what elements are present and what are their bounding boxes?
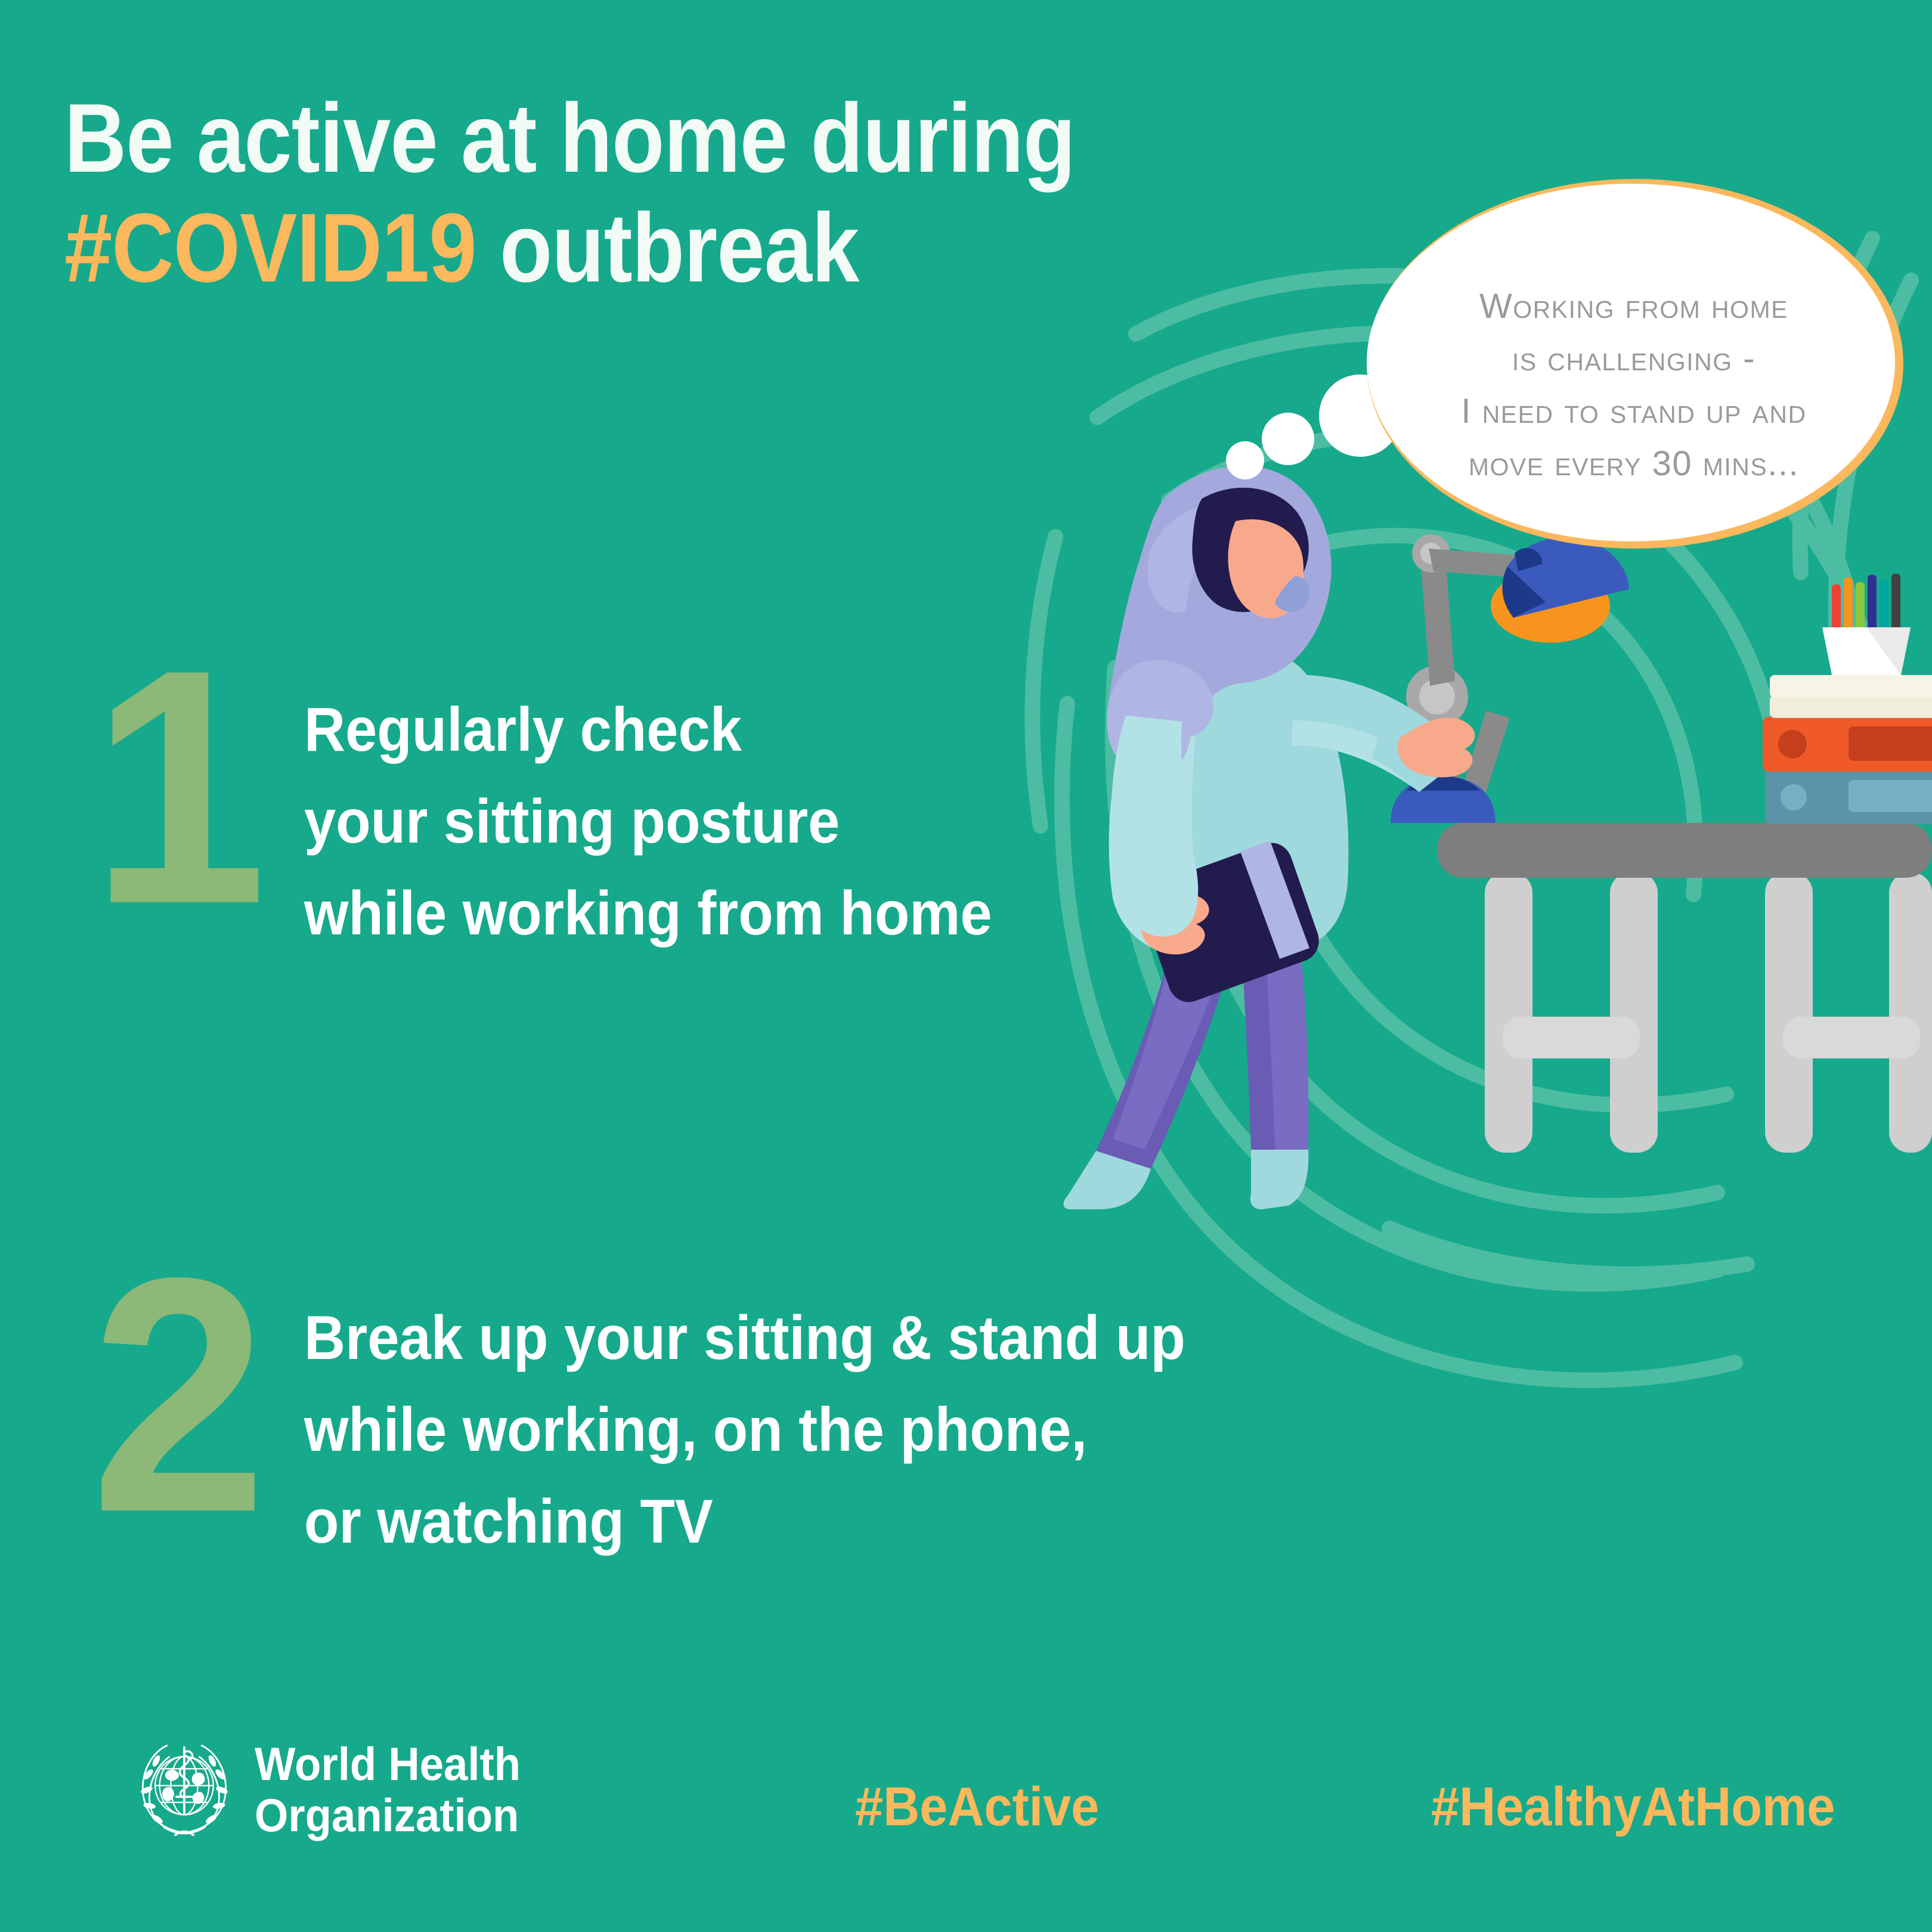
hashtag-healthyathome[interactable]: #HealthyAtHome — [1431, 1776, 1835, 1838]
headline-outbreak-word: outbreak — [476, 193, 859, 302]
bubble-line-3: I need to stand up and — [1419, 385, 1849, 438]
thought-dot-small — [1226, 441, 1264, 479]
tip-item-1: 1 Regularly check your sitting posture w… — [66, 650, 1052, 960]
book-stack — [1763, 675, 1932, 824]
footer: World Health Organization #BeActive #Hea… — [0, 1717, 1932, 1932]
tip-1-line-2: your sitting posture — [304, 776, 992, 868]
tip-2-line-2: while working, on the phone, — [304, 1385, 1185, 1476]
hashtag-beactive[interactable]: #BeActive — [855, 1776, 1099, 1838]
who-line-2: Organization — [255, 1790, 521, 1841]
tip-1-text: Regularly check your sitting posture whi… — [304, 650, 1052, 960]
tip-2-number: 2 — [72, 1258, 287, 1532]
tip-2-line-1: Break up your sitting & stand up — [304, 1293, 1185, 1385]
tip-2-line-3: or watching TV — [304, 1476, 1185, 1568]
who-line-1: World Health — [255, 1739, 521, 1790]
woman-figure — [1064, 466, 1475, 1209]
bubble-line-4: move every 30 mins... — [1419, 438, 1849, 490]
who-be-active-poster: Be active at home during #COVID19 outbre… — [0, 0, 1932, 1932]
thought-bubble: Working from home is challenging - I nee… — [1367, 179, 1903, 549]
thought-bubble-text: Working from home is challenging - I nee… — [1419, 280, 1849, 491]
headline-line-2: #COVID19 outbreak — [64, 193, 1166, 303]
tip-1-line-3: while working from home — [304, 868, 992, 960]
who-emblem-icon — [128, 1734, 240, 1846]
tip-item-2: 2 Break up your sitting & stand up while… — [66, 1258, 1262, 1568]
headline-hashtag-covid19: #COVID19 — [64, 193, 476, 302]
bubble-line-1: Working from home — [1419, 280, 1849, 333]
pencil-cup — [1822, 574, 1911, 675]
tip-1-number: 1 — [72, 650, 287, 924]
thought-dot-medium — [1262, 413, 1314, 465]
who-logo: World Health Organization — [128, 1734, 541, 1846]
headline: Be active at home during #COVID19 outbre… — [64, 83, 1317, 302]
tip-1-line-1: Regularly check — [304, 685, 992, 776]
bubble-line-2: is challenging - — [1419, 333, 1849, 385]
tip-2-text: Break up your sitting & stand up while w… — [304, 1258, 1262, 1568]
who-wordmark: World Health Organization — [255, 1739, 521, 1841]
desk — [1437, 823, 1932, 1153]
headline-line-1: Be active at home during — [64, 83, 1166, 193]
